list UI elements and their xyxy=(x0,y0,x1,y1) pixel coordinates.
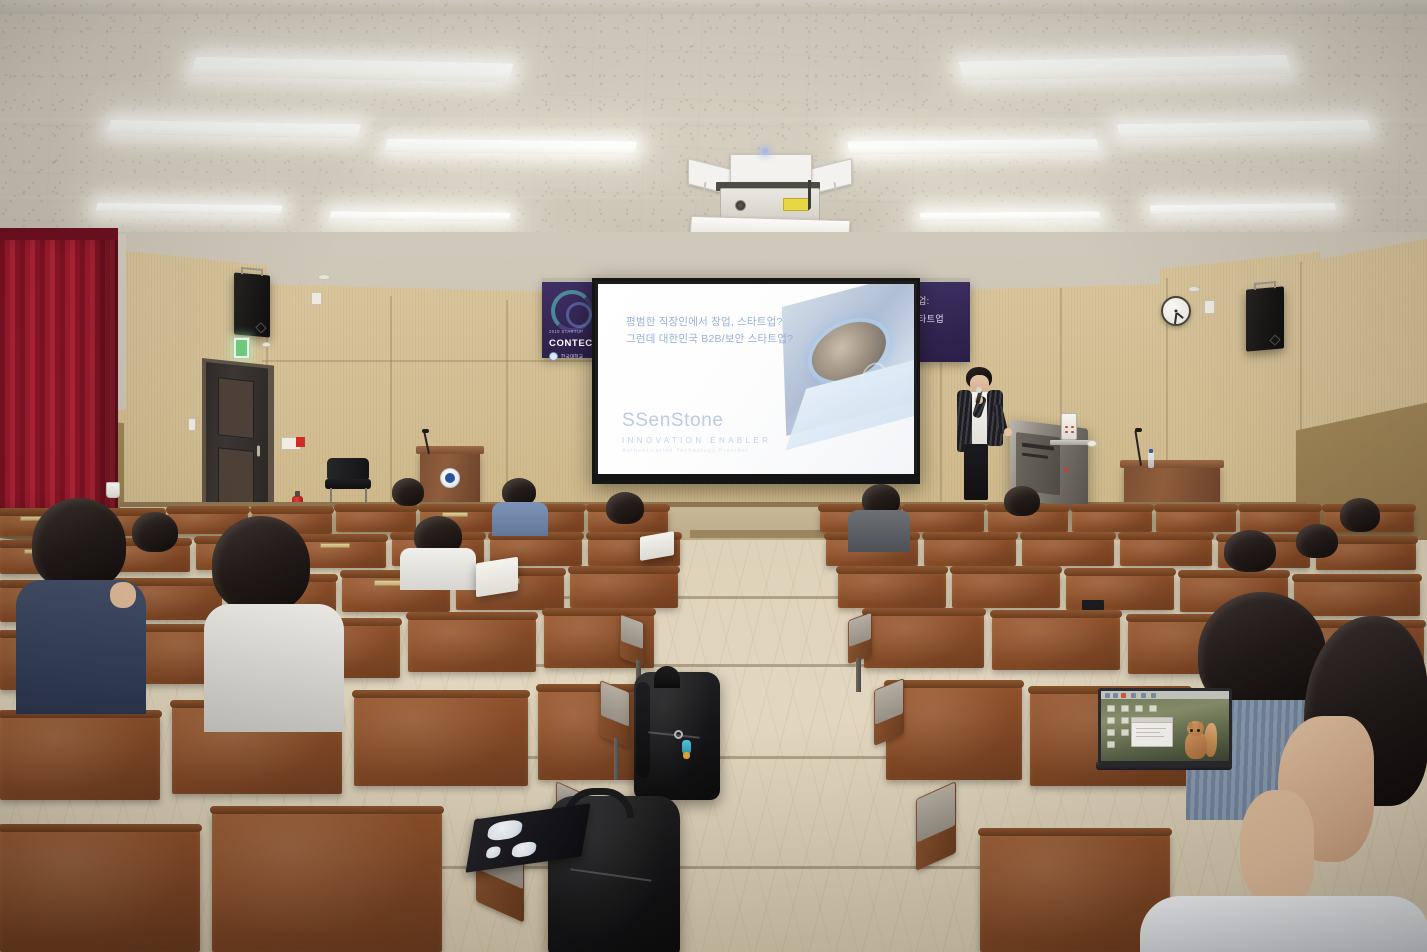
remote-button[interactable] xyxy=(1071,426,1074,428)
wall-clock xyxy=(1161,296,1191,326)
audience-hair xyxy=(1340,498,1380,532)
black-side-chair xyxy=(327,458,369,494)
fire-alarm-indicator xyxy=(296,437,305,447)
audience-hair xyxy=(132,512,178,552)
audience-torso xyxy=(492,502,548,536)
microphone-head-icon xyxy=(1135,428,1142,432)
slide-headline: 평범한 직장인에서 창업, 스타트업? 그런데 대한민국 B2B/보안 스타트업… xyxy=(626,314,876,348)
seat-top-trim xyxy=(1070,504,1154,512)
seat[interactable] xyxy=(886,684,1022,780)
seat-back xyxy=(354,694,528,786)
squirrel-ear xyxy=(1188,722,1193,728)
wall-plate-left xyxy=(311,292,322,305)
audience-hair xyxy=(1296,524,1338,558)
seat-top-trim xyxy=(166,506,250,514)
seat-top-trim xyxy=(352,690,530,698)
exit-icon xyxy=(236,340,247,356)
curtain-rail xyxy=(0,228,118,240)
ceiling-light xyxy=(385,139,637,155)
backpack-strap xyxy=(636,682,650,778)
backpack-zipper xyxy=(570,868,651,881)
audience-member-left-front-2 xyxy=(212,516,310,612)
banner-right-line2: 타트업 xyxy=(918,312,944,325)
audience-hair xyxy=(606,492,644,524)
brand-tagline: INNOVATION ENABLER xyxy=(622,436,771,445)
seat[interactable] xyxy=(408,616,536,672)
seat[interactable] xyxy=(0,828,200,952)
exit-sign-left xyxy=(233,337,250,359)
laptop-on-desk[interactable] xyxy=(476,557,518,598)
seat[interactable] xyxy=(212,810,442,952)
window-content-line xyxy=(1136,736,1164,737)
armrest-pad xyxy=(621,615,643,649)
lectern-top-surface xyxy=(1120,460,1224,468)
smoke-detector xyxy=(262,342,271,347)
seat-top-trim xyxy=(0,824,202,832)
seat-back xyxy=(952,570,1060,608)
seat-back xyxy=(570,570,678,608)
wall-outlet xyxy=(1087,440,1097,447)
desktop-icon[interactable] xyxy=(1107,741,1115,748)
wooden-lectern-left xyxy=(420,452,480,504)
seat-back xyxy=(838,570,946,608)
squirrel-eye xyxy=(1197,729,1200,732)
armrest-pad xyxy=(849,613,871,647)
audience-hair xyxy=(1004,486,1040,516)
seat[interactable] xyxy=(1072,508,1152,532)
desktop-icon[interactable] xyxy=(1121,717,1129,724)
laptop-screen xyxy=(1098,688,1232,766)
seat-top-trim xyxy=(950,566,1062,574)
squirrel-head xyxy=(1187,721,1204,736)
speaker-bracket xyxy=(1254,281,1276,290)
seat[interactable] xyxy=(354,694,528,786)
chair-back xyxy=(327,458,369,480)
ceiling-light xyxy=(847,139,1099,155)
seat[interactable] xyxy=(0,714,160,800)
seat-top-trim xyxy=(406,612,538,620)
seat[interactable] xyxy=(838,570,946,608)
paper-cup xyxy=(106,482,120,498)
seat-top-trim xyxy=(1292,574,1422,582)
slide-headline-line-2: 그런데 대한민국 B2B/보안 스타트업? xyxy=(626,331,876,348)
desktop-icon[interactable] xyxy=(1149,705,1157,712)
open-laptop[interactable] xyxy=(1098,688,1232,766)
windows-taskbar[interactable] xyxy=(1101,691,1229,699)
audience-hair xyxy=(392,478,424,506)
audience-member xyxy=(1004,486,1040,516)
seat-top-trim xyxy=(1064,568,1176,576)
light-switch-plate[interactable] xyxy=(188,418,196,431)
backpack-strap xyxy=(654,666,680,688)
stage-curtain xyxy=(0,228,118,518)
taskbar-icon[interactable] xyxy=(1151,693,1156,698)
screen-bottom-bar xyxy=(595,474,917,481)
projector-warning-label xyxy=(783,198,809,211)
projector-lift-arm xyxy=(834,182,841,222)
ceiling-beam xyxy=(0,0,1427,14)
presenter-legs xyxy=(964,444,988,500)
seat[interactable] xyxy=(952,570,1060,608)
laptop-sticker xyxy=(486,819,523,842)
backpack-ring-clip xyxy=(674,730,683,739)
taskbar-icon[interactable] xyxy=(1131,693,1136,698)
taskbar-icon[interactable] xyxy=(1113,693,1118,698)
audience-member xyxy=(1224,530,1276,572)
seat-back xyxy=(0,828,200,952)
desktop-icon[interactable] xyxy=(1121,705,1129,712)
window-content-line xyxy=(1136,732,1160,733)
seat-back xyxy=(992,614,1120,670)
seat-leg xyxy=(856,658,861,692)
audience-hand xyxy=(110,582,136,608)
speaker-bracket xyxy=(241,267,263,276)
slide-decorative-image xyxy=(782,284,914,436)
audience-member-left-front xyxy=(32,498,126,590)
taskbar-icon[interactable] xyxy=(1105,693,1110,698)
banner-kicker-text: 2019 STARTUP xyxy=(549,329,583,334)
seat[interactable] xyxy=(924,536,1016,566)
microphone-head-icon xyxy=(976,387,982,393)
seat-top-trim xyxy=(542,608,656,616)
seat-top-trim xyxy=(902,504,986,512)
university-emblem-icon xyxy=(549,352,558,361)
presenter-cardigan xyxy=(957,390,972,452)
seat-top-trim xyxy=(836,566,948,574)
backpack-center-aisle[interactable] xyxy=(634,672,720,800)
laptop-sticker xyxy=(485,846,501,859)
audience-hand-on-chin xyxy=(1240,790,1314,902)
audience-torso xyxy=(1140,896,1427,952)
wall-plate-right xyxy=(1204,300,1215,314)
audience-hair xyxy=(1224,530,1276,572)
banner-right: 업: 타트업 xyxy=(912,282,970,362)
clock-center-pin xyxy=(1175,310,1178,313)
seat-armrest xyxy=(620,614,644,667)
seat[interactable] xyxy=(864,612,984,668)
seat-top-trim xyxy=(418,504,502,512)
wall-speaker-left xyxy=(234,272,270,337)
audience-member xyxy=(392,478,424,506)
seat-armrest xyxy=(848,612,872,665)
remote-button[interactable] xyxy=(1065,431,1068,433)
audience-member xyxy=(1340,498,1380,532)
emblem-inner xyxy=(445,473,455,483)
seat[interactable] xyxy=(992,614,1120,670)
seat[interactable] xyxy=(904,508,984,532)
desktop-icon[interactable] xyxy=(1107,729,1115,736)
seat-top-trim xyxy=(568,566,680,574)
projector-remote[interactable] xyxy=(1061,413,1077,440)
laptop-sticker xyxy=(511,841,537,859)
university-emblem xyxy=(440,468,460,488)
seat[interactable] xyxy=(1156,508,1236,532)
audience-member xyxy=(1296,524,1338,558)
window-content-line xyxy=(1136,728,1166,729)
seat-back xyxy=(0,714,160,800)
ceiling-light xyxy=(330,211,511,220)
door-upper-panel xyxy=(218,377,254,439)
seat-top-trim xyxy=(922,532,1018,540)
projector-indicator-light xyxy=(762,148,768,154)
desktop-icon[interactable] xyxy=(1107,705,1115,712)
smoke-detector xyxy=(318,274,330,280)
banner-ring-graphic-inner xyxy=(566,302,592,328)
seat-top-trim xyxy=(1020,532,1116,540)
squirrel-wallpaper xyxy=(1181,717,1215,761)
remote-button[interactable] xyxy=(1071,431,1074,433)
seat-top-trim xyxy=(1238,504,1322,512)
seat-back xyxy=(886,684,1022,780)
smoke-detector xyxy=(1188,286,1200,292)
seat-top-trim xyxy=(250,506,334,514)
seat[interactable] xyxy=(1120,536,1212,566)
seat[interactable] xyxy=(336,508,416,532)
slide-headline-line-1: 평범한 직장인에서 창업, 스타트업? xyxy=(626,314,876,331)
console-side-shelf xyxy=(1050,440,1092,445)
projector-lens xyxy=(735,200,746,211)
audience-torso xyxy=(400,548,476,590)
seat-back xyxy=(864,612,984,668)
window-titlebar[interactable] xyxy=(1132,718,1172,723)
seat-back xyxy=(408,616,536,672)
desktop-icon[interactable] xyxy=(1121,729,1129,736)
ceiling-light xyxy=(920,211,1101,220)
banner-university: 한국대학교 xyxy=(549,352,583,361)
desktop-icon[interactable] xyxy=(1107,717,1115,724)
banner-university-text: 한국대학교 xyxy=(561,354,583,360)
slide-brand-logo: SSenStone INNOVATION ENABLER Authenticat… xyxy=(622,410,771,454)
audience-hair xyxy=(212,516,310,612)
taskbar-icon[interactable] xyxy=(1121,693,1126,698)
seat-top-trim xyxy=(884,680,1024,688)
projector-cable xyxy=(808,180,811,210)
seat-back xyxy=(1120,536,1212,566)
audience-torso xyxy=(204,604,344,732)
seat-back xyxy=(212,810,442,952)
seat[interactable] xyxy=(570,570,678,608)
seat-top-trim xyxy=(1118,532,1214,540)
seat-leg xyxy=(614,738,619,780)
audience-torso xyxy=(848,510,910,552)
seat-top-trim xyxy=(210,806,444,814)
brand-name: SSenStone xyxy=(622,410,771,432)
wall-speaker-right xyxy=(1246,286,1284,351)
seat-top-trim xyxy=(978,828,1172,836)
seat-top-trim xyxy=(862,608,986,616)
presenter-hand-right xyxy=(1004,428,1012,436)
taskbar-icon[interactable] xyxy=(1141,693,1146,698)
seat-back xyxy=(1022,536,1114,566)
desktop-icon[interactable] xyxy=(1135,705,1143,712)
seat[interactable] xyxy=(1022,536,1114,566)
seat-top-trim xyxy=(990,610,1122,618)
speaker-logo-icon xyxy=(255,322,266,333)
audience-member xyxy=(606,492,644,524)
phone-on-desk[interactable] xyxy=(1082,600,1104,610)
squirrel-eye xyxy=(1190,729,1193,732)
seat-back xyxy=(924,536,1016,566)
banner-rail xyxy=(912,278,970,282)
audience-member xyxy=(132,512,178,552)
slide-surface: 평범한 직장인에서 창업, 스타트업? 그런데 대한민국 B2B/보안 스타트업… xyxy=(598,284,914,474)
seat-top-trim xyxy=(1154,504,1238,512)
remote-button[interactable] xyxy=(1065,426,1068,428)
seat-tag xyxy=(320,543,350,548)
desktop-window[interactable] xyxy=(1131,717,1173,747)
audience-hair xyxy=(32,498,126,590)
lecture-hall-photo: 2019 STARTUP CONTECH 한국대학교 업: 타트업 평범한 직장… xyxy=(0,0,1427,952)
door-handle[interactable] xyxy=(257,445,260,456)
seat-top-trim xyxy=(536,684,648,692)
fire-extinguisher-nozzle xyxy=(295,491,300,497)
microphone-head-icon xyxy=(422,429,429,433)
bottle-cap xyxy=(1149,449,1153,453)
brand-subtagline: Authentication Technology Provider xyxy=(622,448,771,454)
charm-bead xyxy=(683,752,690,759)
squirrel-ear xyxy=(1198,722,1203,728)
projection-screen: 평범한 직장인에서 창업, 스타트업? 그런데 대한민국 B2B/보안 스타트업… xyxy=(592,278,920,484)
backpack-charm xyxy=(682,740,691,755)
water-bottle xyxy=(1148,452,1154,468)
speaker-logo-icon xyxy=(1269,334,1280,345)
console-power-button[interactable] xyxy=(1064,468,1068,472)
